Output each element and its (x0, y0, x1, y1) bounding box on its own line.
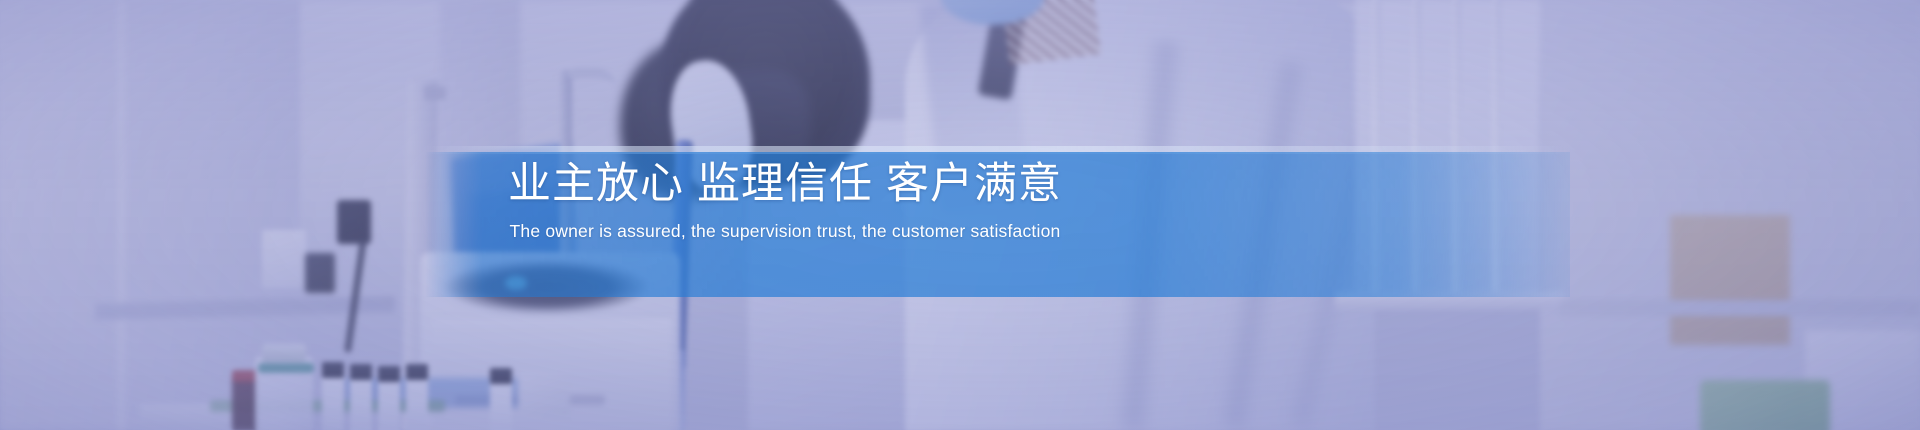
blue-overlay-band (425, 152, 1570, 297)
hero-banner: 业主放心 监理信任 客户满意 The owner is assured, the… (0, 0, 1920, 430)
